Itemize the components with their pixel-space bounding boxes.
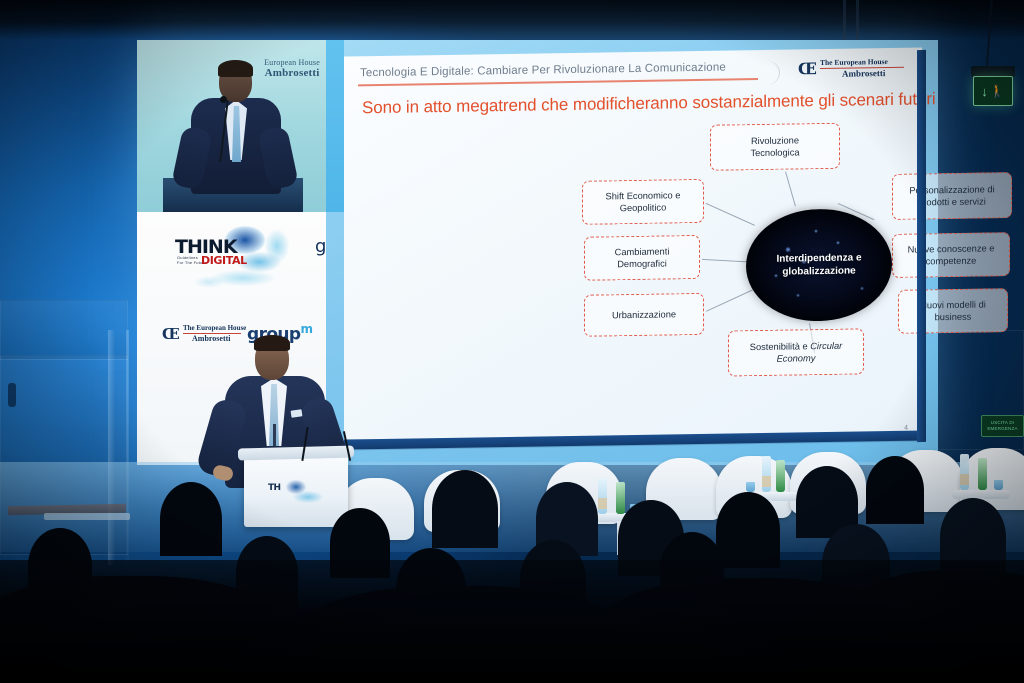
slide-right-border — [917, 50, 926, 442]
podium-think-logo: TH — [268, 479, 326, 509]
node-line1: Sostenibilità e — [750, 341, 810, 352]
audience-foreground-shadow — [0, 560, 1024, 683]
podium-top-surface — [238, 445, 354, 460]
connector-line-rivoluzione — [785, 172, 796, 207]
water-bottle-green-2 — [776, 460, 785, 492]
node-line2: Tecnologica — [750, 147, 799, 158]
screen-blue-strip — [326, 40, 344, 212]
groupm-superscript: m — [301, 322, 313, 336]
node-line2: prodotti e servizi — [918, 196, 986, 207]
ceiling-shadow — [0, 0, 1024, 40]
slide-kicker: Tecnologia E Digitale: Cambiare Per Rivo… — [360, 62, 726, 80]
feed-microphone-head — [220, 96, 227, 103]
feed-speaker-hair — [218, 60, 253, 77]
ambrosetti-mark-icon: Œ — [162, 327, 179, 341]
cut-off-letter-g: g — [315, 236, 326, 257]
globe-label: Interdipendenza e globalizzazione — [776, 251, 861, 278]
node-line1: Nuovi modelli di — [920, 299, 986, 310]
emergency-exit-sign-wall: USCITA DI EMERGENZA — [981, 415, 1024, 437]
slide-logo-line2: Ambrosetti — [842, 68, 885, 79]
bottle-label — [960, 474, 969, 485]
ambrosetti-line1: The European House — [183, 324, 246, 332]
slide-ambrosetti-logo: Œ The European House Ambrosetti — [798, 57, 906, 59]
exit-sign-line2: EMERGENZA — [987, 426, 1017, 432]
globe-label-line2: globalizzazione — [782, 266, 855, 278]
running-man-icon: 🚶 — [990, 85, 1005, 98]
bottle-label — [598, 498, 607, 509]
node-line2-italic: Economy — [777, 353, 816, 364]
node-personalizzazione-prodotti-servizi[interactable]: Personalizzazione diprodotti e servizi — [892, 172, 1012, 220]
node-nuove-conoscenze-competenze[interactable]: Nuove conoscenze ecompetenze — [892, 232, 1010, 278]
node-sostenibilita-circular-economy[interactable]: Sostenibilità e CircularEconomy — [728, 328, 864, 376]
feed-speaker-figure — [189, 62, 283, 194]
node-line2: competenze — [926, 256, 977, 267]
node-line1-italic: Circular — [810, 341, 842, 352]
node-line2: Demografici — [617, 258, 667, 269]
node-shift-economico-geopolitico[interactable]: Shift Economico eGeopolitico — [582, 179, 704, 225]
node-line2: business — [935, 312, 972, 323]
water-bottle-blue-1 — [598, 478, 607, 514]
globe-center-node: Interdipendenza e globalizzazione — [746, 208, 892, 322]
slide-header: Tecnologia E Digitale: Cambiare Per Rivo… — [358, 56, 908, 95]
down-arrow-icon: ↓ — [981, 85, 988, 98]
node-line1: Urbanizzazione — [612, 308, 676, 321]
water-bottle-green-3 — [978, 458, 987, 490]
connector-line-cambiamenti — [702, 259, 750, 263]
audience-head — [716, 492, 780, 568]
emergency-exit-sign-hanging: ↓ 🚶 — [973, 76, 1013, 106]
node-nuovi-modelli-business[interactable]: Nuovi modelli dibusiness — [898, 288, 1008, 334]
podium: TH — [244, 455, 348, 527]
connector-line-shift — [706, 203, 755, 226]
audience-head — [866, 456, 924, 524]
slide-logo-line1: The European House — [820, 57, 888, 67]
podium-logo-splash — [282, 477, 326, 507]
conference-hall-scene: European House Ambrosetti THINK — [0, 0, 1024, 683]
water-bottle-blue-2 — [762, 456, 771, 492]
speaker-hair — [254, 335, 290, 351]
node-urbanizzazione[interactable]: Urbanizzazione — [584, 293, 704, 337]
door-handle[interactable] — [8, 383, 16, 407]
node-line1: Rivoluzione — [751, 135, 799, 146]
node-rivoluzione-tecnologica[interactable]: RivoluzioneTecnologica — [710, 123, 840, 171]
water-bottle-blue-3 — [960, 454, 969, 490]
audience-head — [432, 470, 498, 548]
audience-head — [160, 482, 222, 556]
think-digital-logo: THINK Guidelines For The Future DIGITAL — [175, 226, 285, 286]
drinking-glass-2 — [746, 482, 755, 492]
water-bottle-green-1 — [616, 482, 625, 514]
node-line1: Cambiamenti — [615, 246, 670, 257]
podium-logo-word: TH — [268, 483, 280, 493]
node-cambiamenti-demografici[interactable]: CambiamentiDemografici — [584, 235, 700, 281]
node-line2: Geopolitico — [620, 202, 667, 213]
side-table-far-right — [952, 490, 1010, 499]
slide-title: Sono in atto megatrend che modificherann… — [362, 90, 908, 119]
speaker-badge-lanyard — [273, 424, 276, 446]
drinking-glass-3 — [994, 480, 1003, 490]
slide-swoosh-icon — [754, 60, 780, 86]
presentation-slide: Tecnologia E Digitale: Cambiare Per Rivo… — [344, 47, 922, 446]
globe-label-line1: Interdipendenza e — [776, 252, 861, 264]
bottle-label — [762, 476, 771, 487]
slide-logo-mark-icon: Œ — [798, 61, 817, 76]
slide-kicker-rule — [358, 78, 758, 86]
connector-line-urbanizzazione — [706, 286, 759, 311]
think-logo-sub: DIGITAL — [201, 254, 247, 267]
node-line1: Shift Economico e — [606, 190, 681, 201]
megatrend-diagram: RivoluzioneTecnologica Shift Economico e… — [358, 116, 908, 425]
speaker-video-feed: European House Ambrosetti — [137, 40, 326, 212]
